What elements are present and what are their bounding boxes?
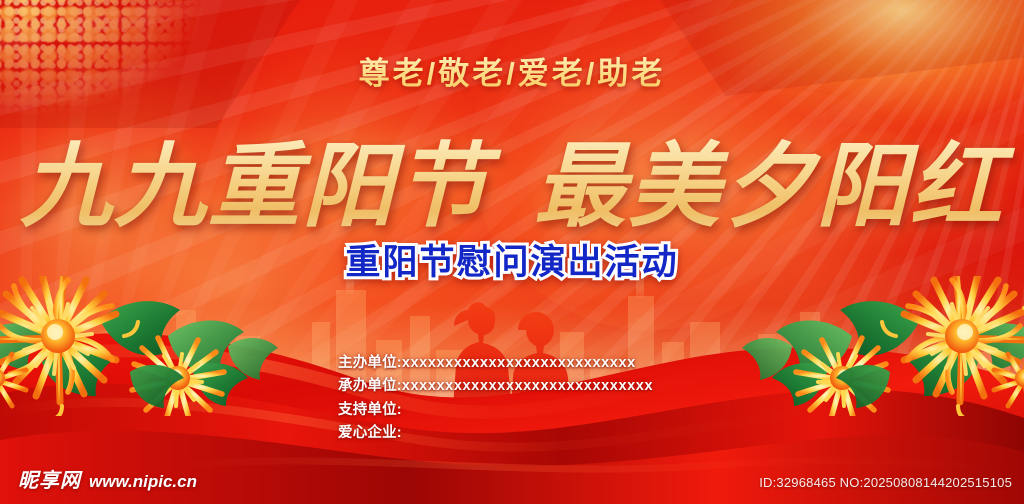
main-title: 九九重阳节最美夕阳红 [0, 112, 1024, 245]
main-title-right: 最美夕阳红 [534, 132, 1004, 240]
organizer-value: xxxxxxxxxxxxxxxxxxxxxxxxxxx [402, 355, 636, 371]
event-subtitle: 重阳节慰问演出活动 [0, 234, 1024, 285]
organizer-info-block: 主办单位:xxxxxxxxxxxxxxxxxxxxxxxxxxx 承办单位:xx… [338, 352, 653, 446]
organizer-row: 支持单位: [338, 399, 653, 422]
chrysanthemum-cluster-right-icon [738, 276, 1024, 416]
organizer-row: 承办单位:xxxxxxxxxxxxxxxxxxxxxxxxxxxxx [338, 375, 653, 398]
organizer-label: 承办单位: [338, 378, 402, 394]
organizer-label: 主办单位: [338, 355, 402, 371]
main-title-left: 九九重阳节 [20, 132, 490, 240]
poster-canvas: 尊老/敬老/爱老/助老 九九重阳节最美夕阳红 重阳节慰问演出活动 主办单位:xx… [0, 0, 1024, 504]
site-watermark[interactable]: 昵享网 www.nipic.cn [18, 464, 197, 493]
organizer-label: 爱心企业: [338, 425, 402, 441]
chrysanthemum-cluster-left-icon [0, 276, 282, 416]
footer-bar: 昵享网 www.nipic.cn ID:32968465 NO:20250808… [0, 460, 1024, 504]
organizer-label: 支持单位: [338, 402, 402, 418]
organizer-row: 爱心企业: [338, 422, 653, 445]
organizer-row: 主办单位:xxxxxxxxxxxxxxxxxxxxxxxxxxx [338, 352, 653, 375]
top-slogan: 尊老/敬老/爱老/助老 [0, 48, 1024, 93]
brand-name-cn: 昵享网 [18, 464, 81, 493]
asset-id-code: ID:32968465 NO:20250808144202515105 [759, 475, 1012, 490]
organizer-value: xxxxxxxxxxxxxxxxxxxxxxxxxxxxx [402, 378, 653, 394]
brand-url: www.nipic.cn [89, 472, 197, 492]
